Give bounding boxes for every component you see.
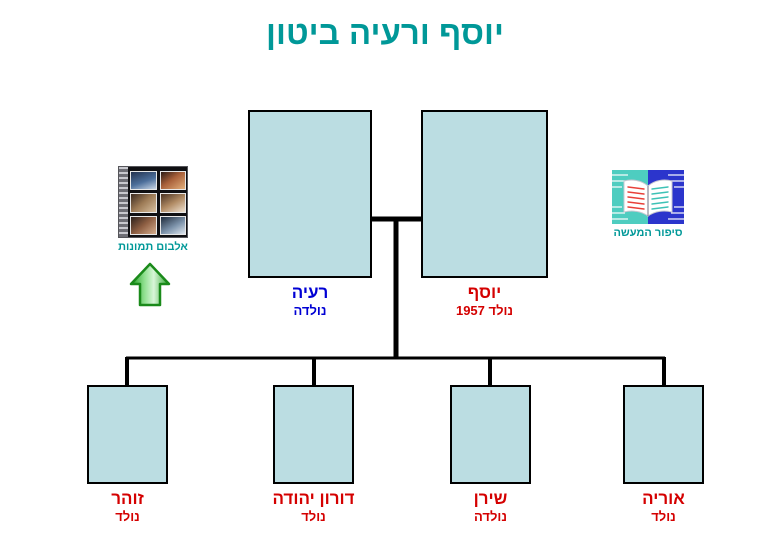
person-name-mother: רעיה bbox=[248, 284, 372, 302]
album-photo bbox=[130, 171, 157, 190]
person-box-father[interactable] bbox=[421, 110, 548, 278]
person-name-father: יוסף bbox=[421, 284, 548, 302]
person-name-child-4: אוריה bbox=[598, 490, 729, 508]
person-box-child-1[interactable] bbox=[87, 385, 168, 484]
person-box-child-3[interactable] bbox=[450, 385, 531, 484]
person-box-child-2[interactable] bbox=[273, 385, 354, 484]
album-photo bbox=[160, 193, 187, 212]
page-title: יוסף ורעיה ביטון bbox=[0, 14, 770, 52]
photo-album-caption: אלבום תמונות bbox=[104, 241, 202, 253]
album-photo-grid bbox=[130, 171, 186, 235]
album-photo bbox=[130, 216, 157, 235]
album-photo bbox=[160, 171, 187, 190]
person-name-child-2: דורון יהודה bbox=[248, 490, 379, 508]
photo-album-item[interactable]: אלבום תמונות bbox=[104, 166, 202, 253]
album-photo bbox=[130, 193, 157, 212]
album-spiral-binding bbox=[119, 167, 128, 237]
open-book-icon bbox=[612, 170, 684, 224]
person-label-child-3: שירן נולדה bbox=[425, 490, 556, 523]
person-date-child-4: נולד bbox=[598, 510, 729, 524]
person-label-child-2: דורון יהודה נולד bbox=[248, 490, 379, 523]
story-item[interactable]: סיפור המעשה bbox=[596, 170, 700, 239]
album-photo bbox=[160, 216, 187, 235]
person-label-mother: רעיה נולדה bbox=[248, 284, 372, 317]
green-up-arrow-icon[interactable] bbox=[128, 262, 172, 308]
person-box-mother[interactable] bbox=[248, 110, 372, 278]
person-box-child-4[interactable] bbox=[623, 385, 704, 484]
person-date-mother: נולדה bbox=[248, 304, 372, 318]
person-label-father: יוסף נולד 1957 bbox=[421, 284, 548, 317]
family-tree-canvas: יוסף ורעיה ביטון רעיה נולדה יוסף נולד 19… bbox=[0, 0, 770, 550]
person-label-child-1: זוהר נולד bbox=[62, 490, 193, 523]
person-name-child-3: שירן bbox=[425, 490, 556, 508]
person-date-father: נולד 1957 bbox=[421, 304, 548, 318]
person-date-child-2: נולד bbox=[248, 510, 379, 524]
person-date-child-1: נולד bbox=[62, 510, 193, 524]
story-caption: סיפור המעשה bbox=[596, 227, 700, 239]
person-name-child-1: זוהר bbox=[62, 490, 193, 508]
photo-album-icon bbox=[118, 166, 188, 238]
person-label-child-4: אוריה נולד bbox=[598, 490, 729, 523]
person-date-child-3: נולדה bbox=[425, 510, 556, 524]
